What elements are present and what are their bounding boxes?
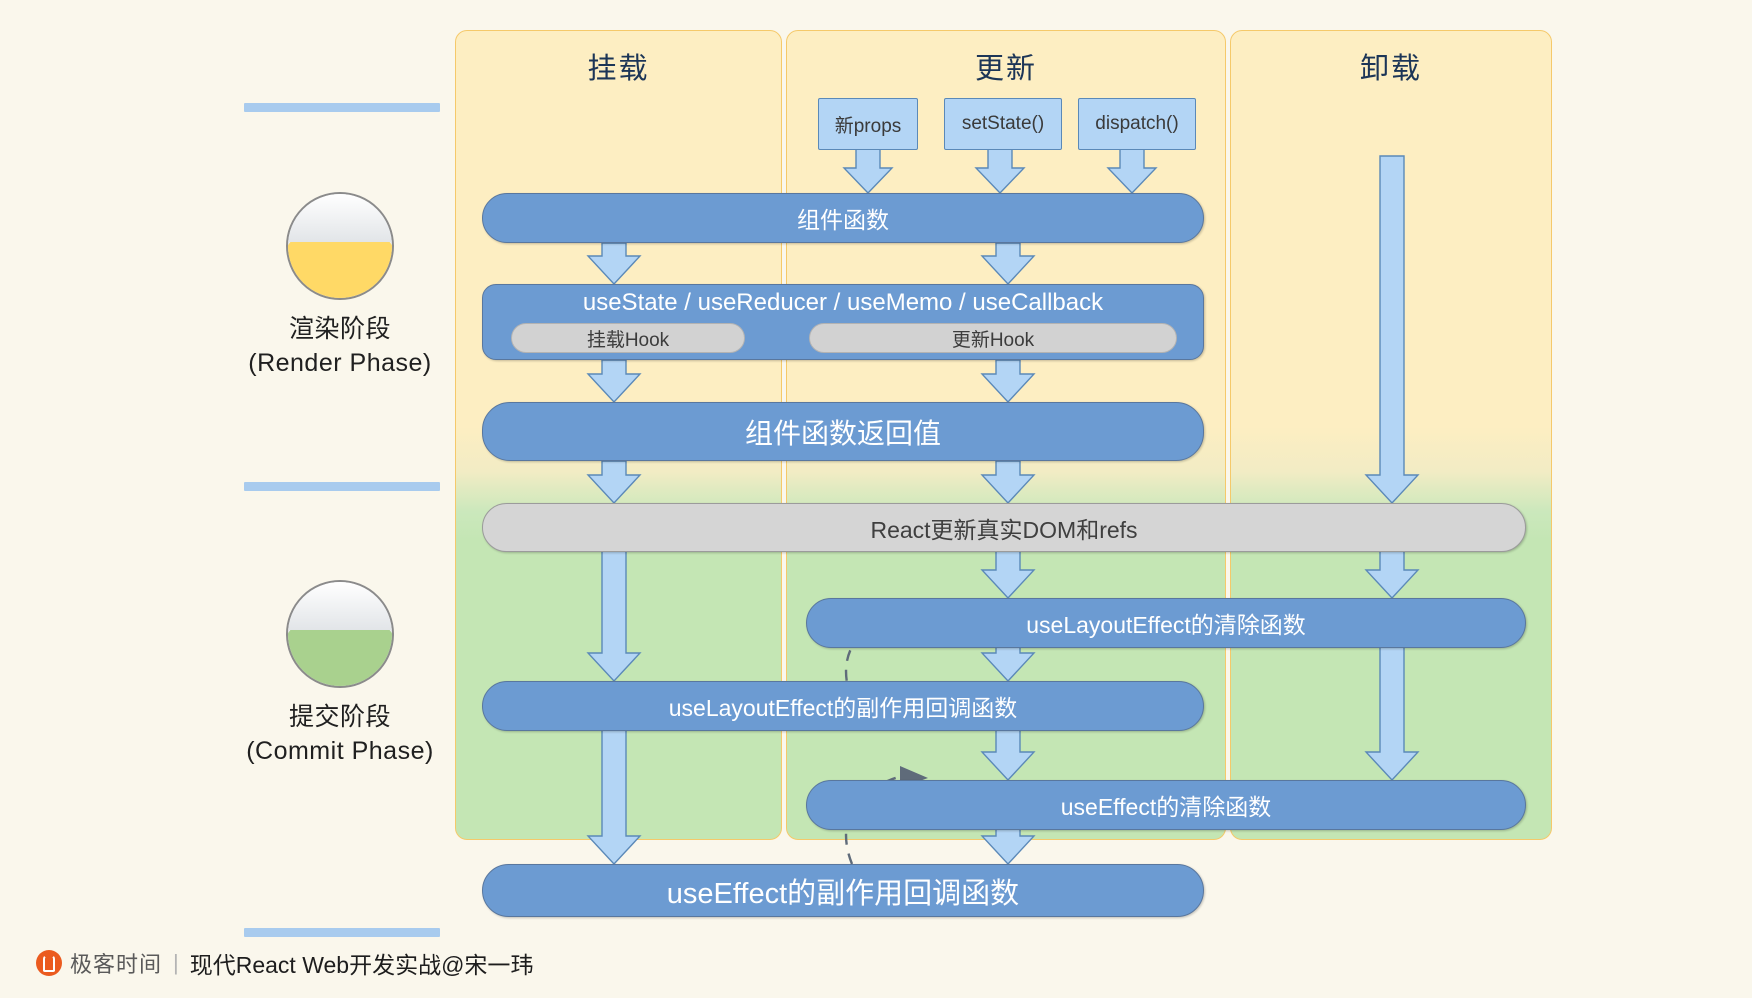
node-layouteffect-cleanup[interactable]: useLayoutEffect的清除函数 bbox=[806, 598, 1526, 648]
arrow-return-to-commitdom-update bbox=[982, 461, 1034, 503]
arrow-setstate-to-component bbox=[976, 148, 1024, 193]
render-phase-label-cn: 渲染阶段 bbox=[150, 312, 530, 346]
node-hooks-label: useState / useReducer / useMemo / useCal… bbox=[483, 289, 1203, 317]
footer-separator: | bbox=[173, 950, 179, 976]
phase-commit: 提交阶段 (Commit Phase) bbox=[150, 580, 530, 768]
diagram-canvas: 挂载 更新 卸载 bbox=[0, 0, 1752, 998]
rail-divider-top bbox=[244, 103, 440, 112]
arrow-layouteffect-to-effect-mount bbox=[588, 722, 640, 864]
trigger-new-props[interactable]: 新props bbox=[818, 98, 918, 150]
node-component-return[interactable]: 组件函数返回值 bbox=[482, 402, 1204, 461]
render-phase-sphere-icon bbox=[286, 192, 394, 300]
arrow-unmount-to-commitdom bbox=[1366, 156, 1418, 503]
geekbang-logo-icon bbox=[36, 950, 62, 976]
commit-phase-sphere-icon bbox=[286, 580, 394, 688]
node-effect-cleanup[interactable]: useEffect的清除函数 bbox=[806, 780, 1526, 830]
arrow-hooks-to-return-update bbox=[982, 360, 1034, 402]
trigger-dispatch[interactable]: dispatch() bbox=[1078, 98, 1196, 150]
arrow-commitdom-to-layouteffect-mount bbox=[588, 542, 640, 681]
arrow-newprops-to-component bbox=[844, 148, 892, 193]
commit-phase-label-en: (Commit Phase) bbox=[150, 734, 530, 768]
arrow-hooks-to-return-mount bbox=[588, 360, 640, 402]
pill-mount-hook[interactable]: 挂载Hook bbox=[511, 323, 745, 353]
arrow-component-to-hooks-mount bbox=[588, 243, 640, 284]
render-phase-label-en: (Render Phase) bbox=[150, 346, 530, 380]
arrow-component-to-hooks-update bbox=[982, 243, 1034, 284]
rail-divider-bottom bbox=[244, 928, 440, 937]
rail-divider-middle bbox=[244, 482, 440, 491]
footer-brand: 极客时间 bbox=[70, 947, 162, 979]
phase-render: 渲染阶段 (Render Phase) bbox=[150, 192, 530, 380]
footer-title: 现代React Web开发实战@宋一玮 bbox=[190, 946, 534, 980]
node-react-commit-dom[interactable]: React更新真实DOM和refs bbox=[482, 503, 1526, 552]
pill-update-hook[interactable]: 更新Hook bbox=[809, 323, 1177, 353]
arrow-return-to-commitdom-mount bbox=[588, 461, 640, 503]
node-layouteffect-callback[interactable]: useLayoutEffect的副作用回调函数 bbox=[482, 681, 1204, 731]
node-hooks[interactable]: useState / useReducer / useMemo / useCal… bbox=[482, 284, 1204, 360]
arrow-layoutcleanup-to-effectcleanup-unmount bbox=[1366, 632, 1418, 780]
node-component-function[interactable]: 组件函数 bbox=[482, 193, 1204, 243]
footer: 极客时间 | 现代React Web开发实战@宋一玮 bbox=[36, 946, 533, 980]
arrow-dispatch-to-component bbox=[1108, 148, 1156, 193]
trigger-set-state[interactable]: setState() bbox=[944, 98, 1062, 150]
commit-phase-label-cn: 提交阶段 bbox=[150, 700, 530, 734]
node-effect-callback[interactable]: useEffect的副作用回调函数 bbox=[482, 864, 1204, 917]
